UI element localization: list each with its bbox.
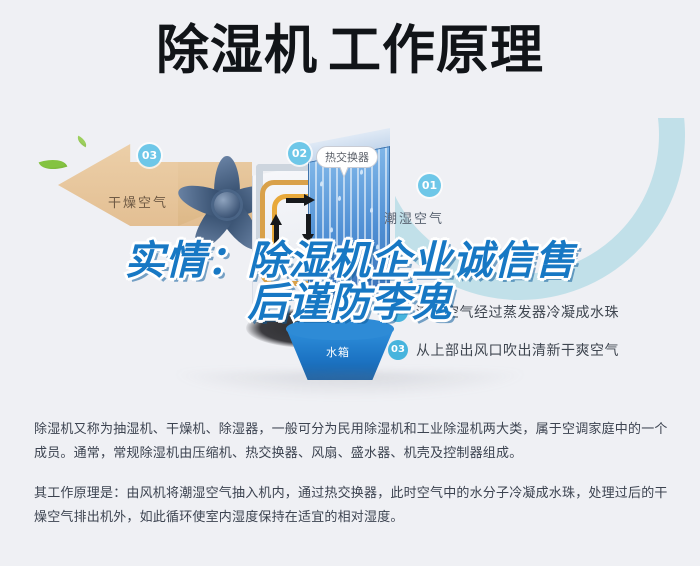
body-paragraph-1: 除湿机又称为抽湿机、干燥机、除湿器，一般可分为民用除湿机和工业除湿机两大类，属于… [34, 418, 670, 466]
flow-arrow-right-icon [304, 194, 315, 206]
flow-arrow-up-icon [270, 214, 282, 225]
page-title-part1: 除湿机 [156, 20, 318, 81]
list-item: 03 从上部出风口吹出清新干爽空气 [388, 340, 688, 360]
leaf-icon [75, 136, 89, 148]
legend-item-text: 从上部出风口吹出清新干爽空气 [416, 340, 619, 360]
page-title: 除湿机工作原理 [0, 24, 700, 77]
flow-arrow-stem [306, 214, 311, 236]
list-item: 02 潮湿空气经过蒸发器冷凝成水珠 [388, 302, 688, 322]
water-tank: 水箱 [286, 318, 394, 380]
legend-badge-number: 02 [388, 302, 408, 322]
water-tank-label: 水箱 [326, 344, 350, 360]
article-body: 除湿机又称为抽湿机、干燥机、除湿器，一般可分为民用除湿机和工业除湿机两大类，属于… [34, 418, 670, 546]
diagram-ground-shadow [170, 372, 530, 398]
heat-exchanger-callout: 热交换器 [316, 146, 378, 168]
legend-badge-number: 03 [388, 340, 408, 360]
leaf-icon [39, 154, 68, 174]
heat-exchanger-fins [308, 146, 390, 304]
poster-root: 除湿机工作原理 干燥空气 03 [0, 0, 700, 566]
flow-arrow-stem [274, 224, 279, 246]
flow-arrow-down-icon [302, 234, 314, 245]
refrigerant-pipe [256, 164, 310, 171]
badge-step-01-diagram: 01 [418, 174, 441, 197]
body-paragraph-2: 其工作原理是：由风机将潮湿空气抽入机内，通过热交换器，此时空气中的水分子冷凝成水… [34, 482, 670, 530]
dry-air-label: 干燥空气 [108, 192, 168, 211]
dehumidifier-unit [252, 158, 410, 318]
badge-step-02-diagram: 02 [288, 142, 311, 165]
humid-air-label: 潮湿空气 [384, 208, 444, 227]
flow-arrow-stem [286, 198, 306, 203]
page-title-part2: 工作原理 [328, 20, 544, 81]
illustration-diagram: 干燥空气 03 [0, 120, 700, 400]
legend-item-text: 潮湿空气经过蒸发器冷凝成水珠 [416, 302, 619, 322]
legend-list: 02 潮湿空气经过蒸发器冷凝成水珠 03 从上部出风口吹出清新干爽空气 [388, 302, 688, 378]
badge-step-03-diagram: 03 [138, 144, 161, 167]
